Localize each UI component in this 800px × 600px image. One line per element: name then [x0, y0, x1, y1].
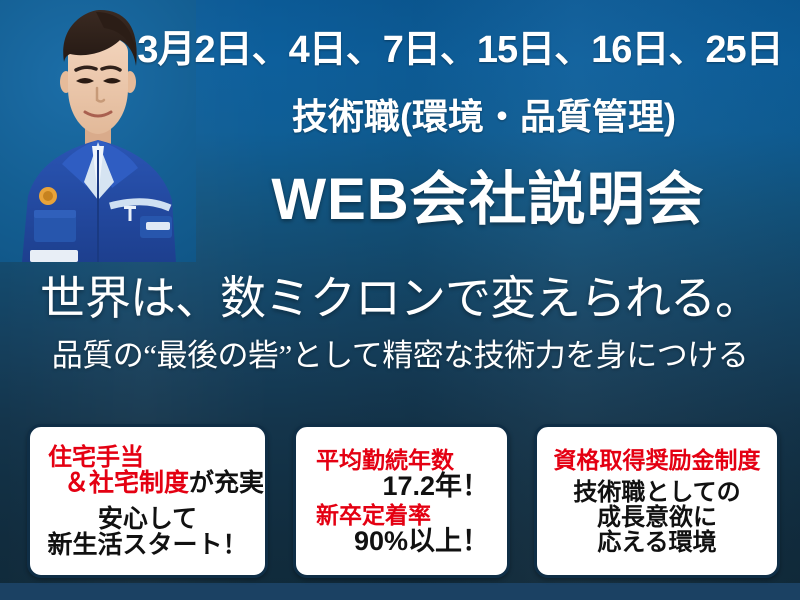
card1-line2-red: ＆社宅制度	[64, 469, 189, 497]
card1-line2: ＆社宅制度が充実	[36, 470, 259, 497]
event-dates: 3月2日、4日、7日、15日、16日、25日	[0, 18, 800, 73]
benefit-card-qualification-incentive: 資格取得奨励金制度 技術職としての 成長意欲に 応える環境	[534, 424, 780, 578]
card3-line3: 成長意欲に	[543, 505, 771, 530]
card2-line3: 新卒定着率	[302, 503, 501, 527]
card1-line3: 安心して	[36, 506, 259, 533]
card1-line4: 新生活スタート！	[36, 532, 259, 559]
card3-line2: 技術職としての	[543, 480, 771, 505]
card1-line1: 住宅手当	[36, 445, 259, 470]
job-category: 技術職(環境・品質管理)	[0, 88, 800, 140]
card1-line2-black: が充実	[189, 469, 264, 497]
primary-tagline: 世界は、数ミクロンで変えられる。	[0, 262, 800, 328]
card2-line1: 平均勤続年数	[302, 448, 501, 472]
benefit-card-housing-allowance: 住宅手当 ＆社宅制度が充実 安心して 新生活スタート！	[27, 424, 268, 578]
page-title: WEB会社説明会	[0, 152, 800, 236]
recruitment-poster: 3月2日、4日、7日、15日、16日、25日 技術職(環境・品質管理) WEB会…	[0, 0, 800, 600]
bottom-strip	[0, 583, 800, 600]
card2-line2: 17.2年！	[302, 472, 501, 501]
header-text-block: 3月2日、4日、7日、15日、16日、25日 技術職(環境・品質管理) WEB会…	[0, 0, 800, 250]
secondary-tagline: 品質の“最後の砦”として精密な技術力を身につける	[0, 330, 800, 375]
card3-line4: 応える環境	[543, 530, 771, 555]
benefit-cards-row: 住宅手当 ＆社宅制度が充実 安心して 新生活スタート！ 平均勤続年数 17.2年…	[0, 424, 800, 580]
card2-line4: 90%以上！	[302, 527, 501, 556]
benefit-card-tenure-retention: 平均勤続年数 17.2年！ 新卒定着率 90%以上！	[293, 424, 510, 578]
card3-line1: 資格取得奨励金制度	[543, 448, 771, 472]
